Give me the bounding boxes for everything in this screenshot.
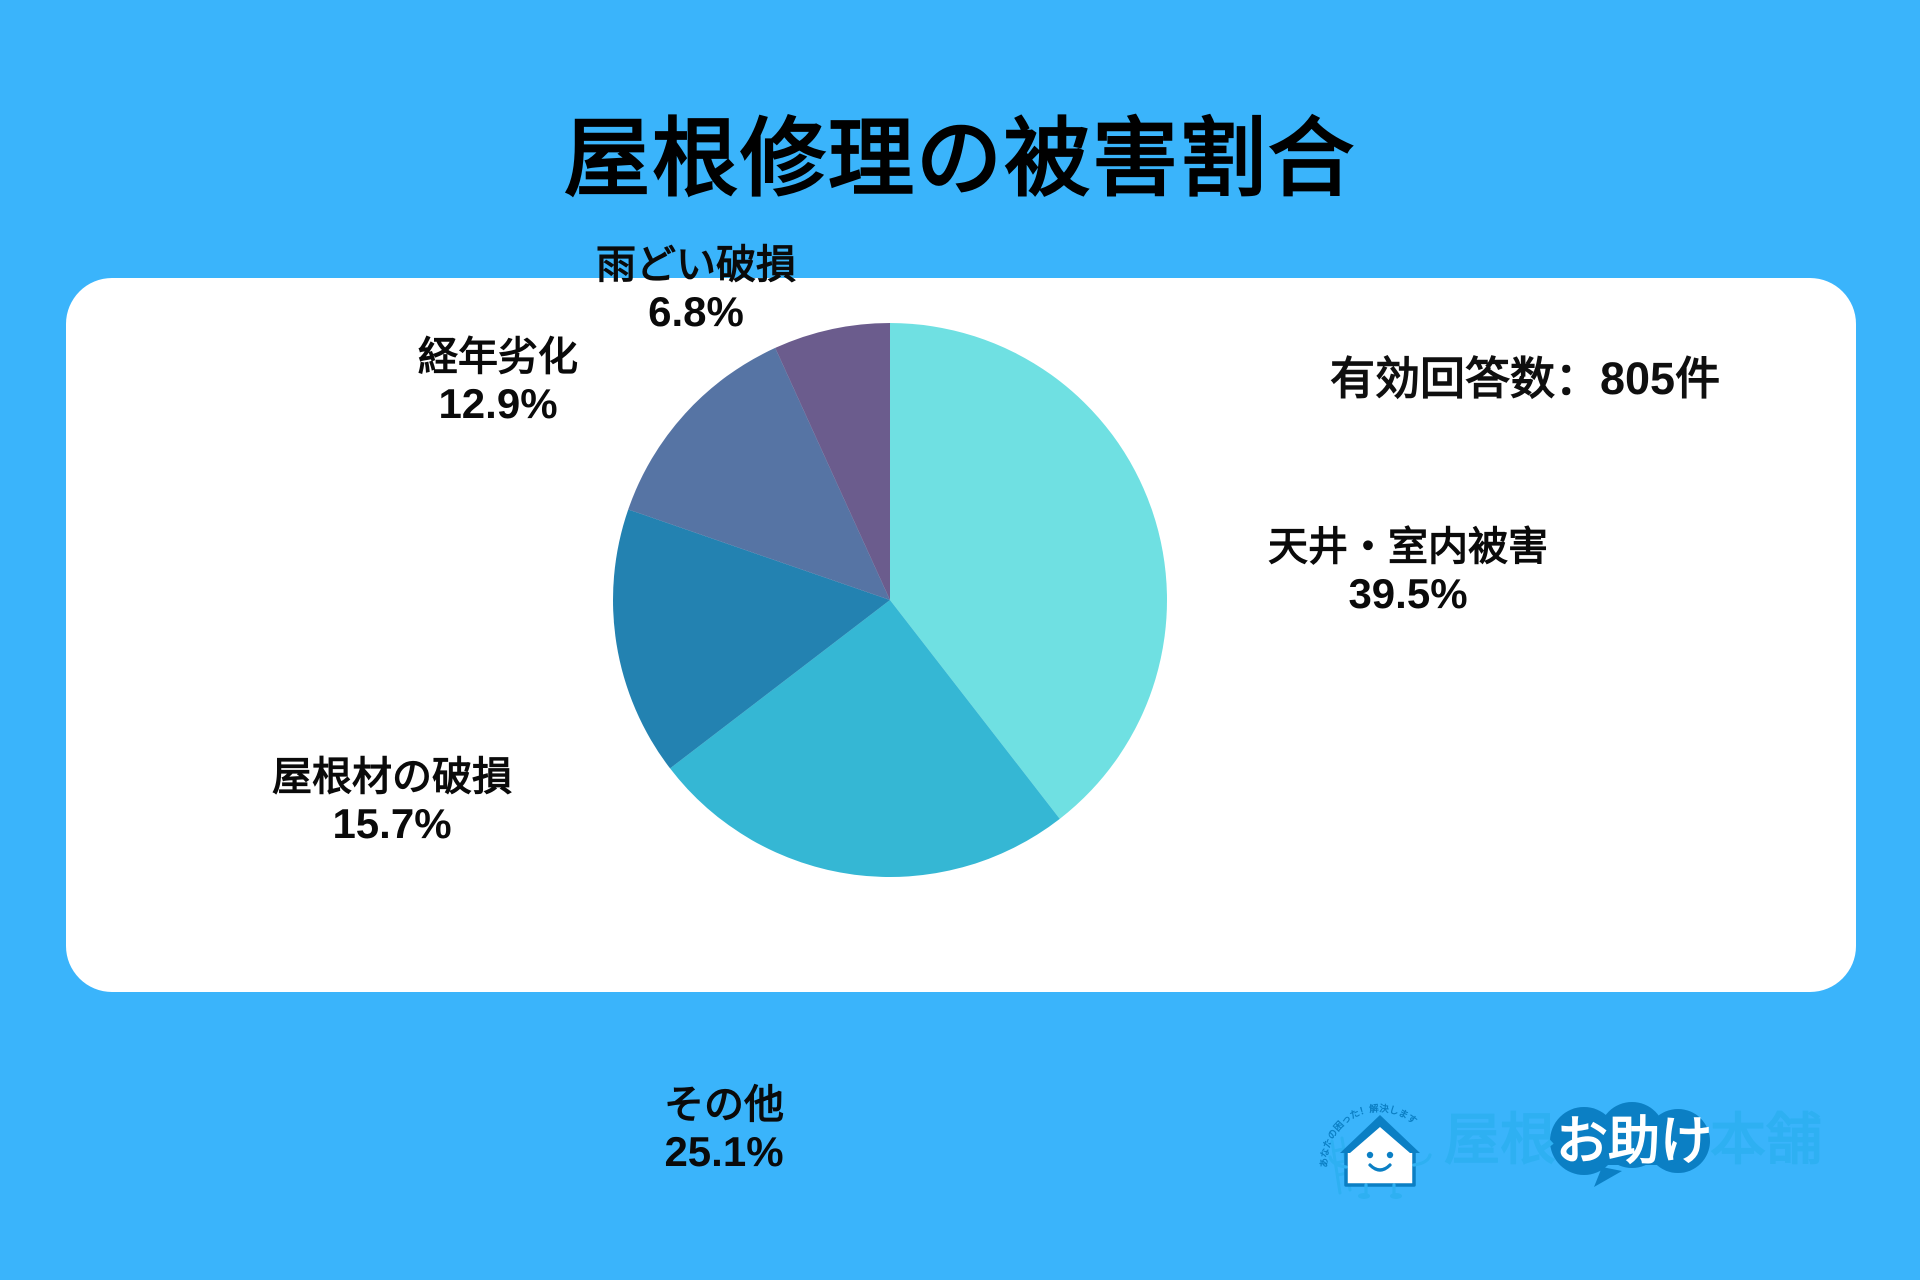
slice-label-material: 屋根材の破損 15.7%	[272, 754, 512, 849]
logo-word-1: 屋根	[1444, 1108, 1556, 1171]
logo-word-2: お助け	[1556, 1113, 1712, 1171]
pie-chart	[612, 322, 1168, 878]
slice-label-other-name: その他	[664, 1082, 784, 1128]
slice-label-other: その他 25.1%	[664, 1082, 784, 1177]
slice-label-gutter-pct: 6.8%	[596, 288, 796, 337]
logo-wordmark: 屋根 お助け 本舗	[1444, 1099, 1844, 1189]
slice-label-other-pct: 25.1%	[664, 1128, 784, 1177]
slice-label-gutter-name: 雨どい破損	[596, 242, 796, 288]
slice-label-ceiling-pct: 39.5%	[1268, 570, 1548, 619]
pie-slice-group	[613, 323, 1167, 877]
page-title: 屋根修理の被害割合	[0, 112, 1920, 207]
infographic-root: 屋根修理の被害割合 有効回答数：805件 天井・室内被害 39.5% その他 2…	[0, 0, 1920, 1280]
brand-logo[interactable]: あなたの困った！解決します	[1318, 1086, 1834, 1202]
slice-label-aging-name: 経年劣化	[418, 334, 578, 380]
slice-label-material-pct: 15.7%	[272, 800, 512, 849]
slice-label-gutter: 雨どい破損 6.8%	[596, 242, 796, 337]
slice-label-aging-pct: 12.9%	[418, 380, 578, 429]
sample-size-note: 有効回答数：805件	[1330, 342, 1720, 407]
slice-label-ceiling-name: 天井・室内被害	[1268, 524, 1548, 570]
logo-word-3: 本舗	[1710, 1108, 1822, 1171]
slice-label-aging: 経年劣化 12.9%	[418, 334, 578, 429]
pie-chart-svg	[612, 322, 1168, 878]
house-mascot-icon: あなたの困った！解決します	[1318, 1089, 1434, 1199]
slice-label-ceiling: 天井・室内被害 39.5%	[1268, 524, 1548, 619]
slice-label-material-name: 屋根材の破損	[272, 754, 512, 800]
